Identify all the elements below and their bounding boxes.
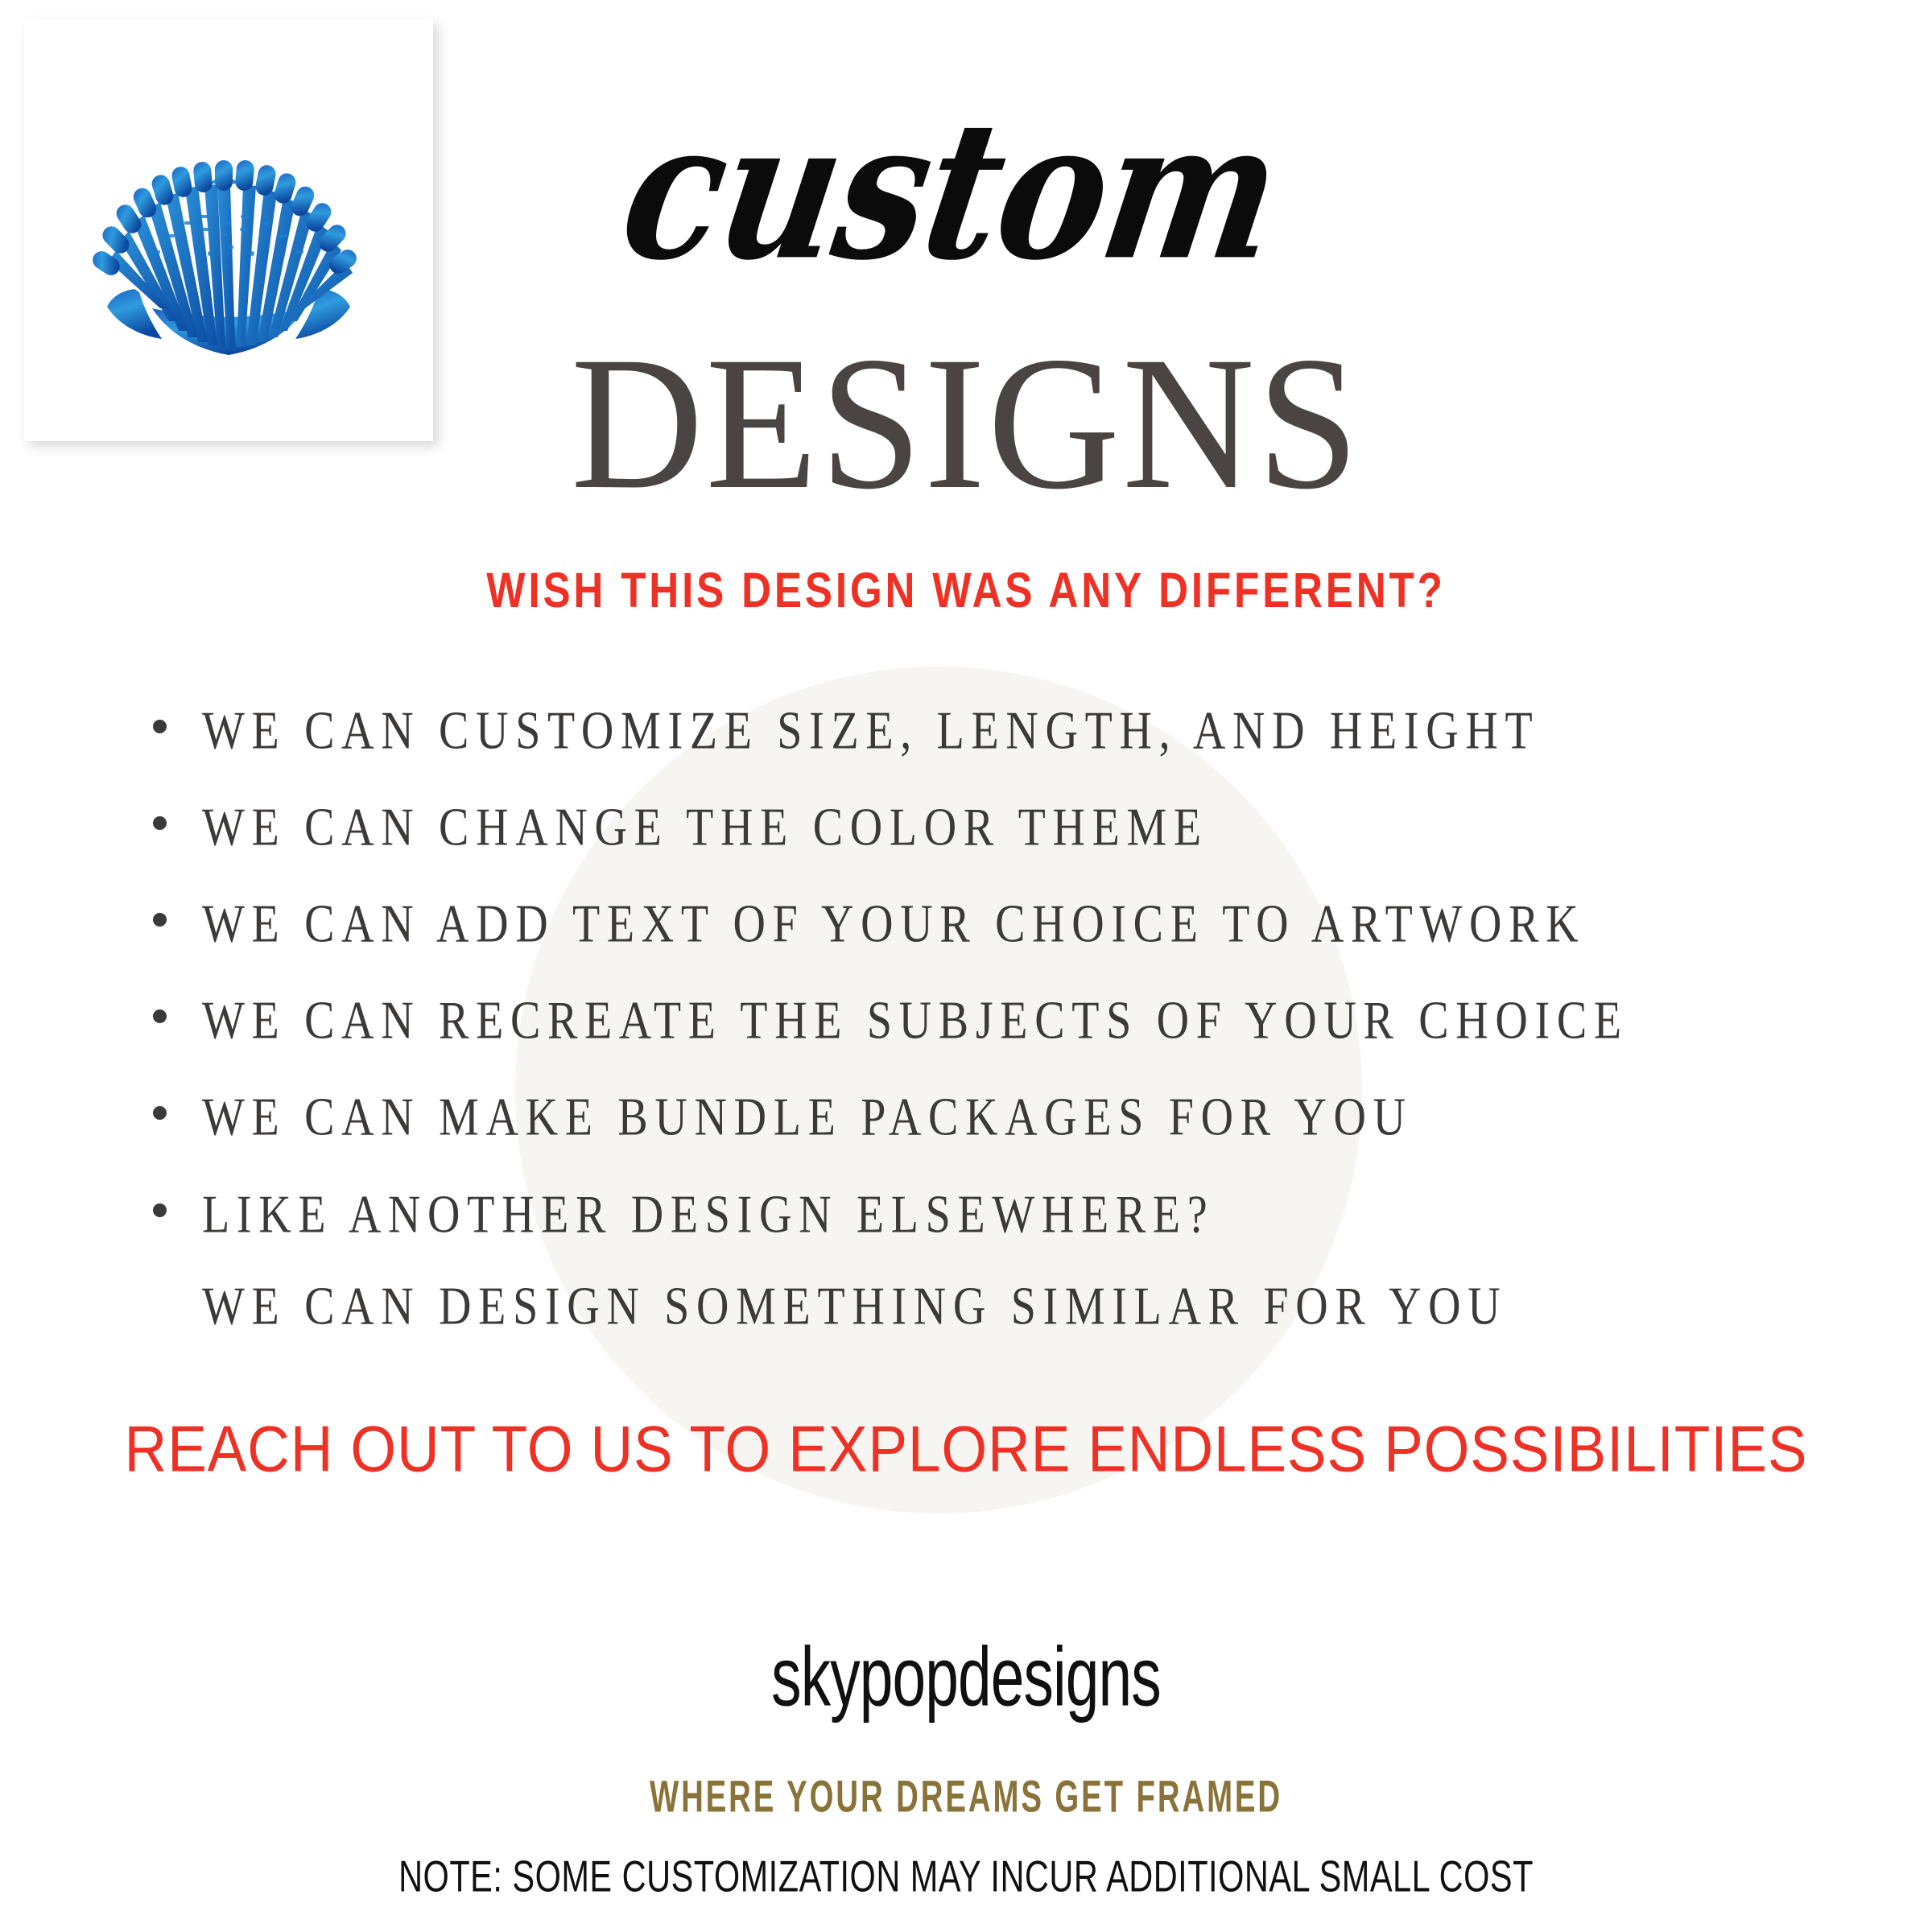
list-item-label: WE CAN ADD TEXT OF YOUR CHOICE TO ARTWOR… — [202, 898, 1585, 953]
bullet-dot-icon — [153, 1106, 167, 1120]
scallop-seashell-icon — [72, 89, 386, 371]
bullet-dot-icon — [153, 1203, 167, 1217]
subtitle-question: WISH THIS DESIGN WAS ANY DIFFERENT? — [68, 566, 1864, 616]
list-item-label: WE CAN RECREATE THE SUBJECTS OF YOUR CHO… — [202, 994, 1629, 1050]
list-item-label: LIKE ANOTHER DESIGN ELSEWHERE? — [202, 1187, 1214, 1243]
list-item: WE CAN ADD TEXT OF YOUR CHOICE TO ARTWOR… — [153, 902, 1811, 947]
bullet-dot-icon — [153, 720, 167, 733]
brand-tagline: WHERE YOUR DREAMS GET FRAMED — [193, 1775, 1739, 1820]
footnote-text: NOTE: SOME CUSTOMIZATION MAY INCUR ADDIT… — [164, 1855, 1768, 1899]
framed-artwork-thumbnail[interactable] — [24, 19, 433, 441]
list-item-label: WE CAN CUSTOMIZE SIZE, LENGTH, AND HEIGH… — [202, 704, 1539, 759]
bullet-dot-icon — [153, 913, 167, 927]
bullet-dot-icon — [153, 1009, 167, 1023]
list-item-continuation: WE CAN DESIGN SOMETHING SIMILAR FOR YOU — [153, 1284, 1811, 1330]
list-item-label: WE CAN MAKE BUNDLE PACKAGES FOR YOU — [202, 1091, 1413, 1146]
list-item: WE CAN MAKE BUNDLE PACKAGES FOR YOU — [153, 1095, 1811, 1141]
list-item: WE CAN RECREATE THE SUBJECTS OF YOUR CHO… — [153, 998, 1811, 1044]
list-item: WE CAN CHANGE THE COLOR THEME — [153, 805, 1811, 851]
call-to-action-text: REACH OUT TO US TO EXPLORE ENDLESS POSSI… — [39, 1418, 1893, 1483]
benefits-list: WE CAN CUSTOMIZE SIZE, LENGTH, AND HEIGH… — [153, 708, 1811, 1330]
brand-name: skypopdesigns — [213, 1636, 1719, 1719]
bullet-dot-icon — [153, 816, 167, 830]
list-item: LIKE ANOTHER DESIGN ELSEWHERE? — [153, 1192, 1811, 1238]
list-item: WE CAN CUSTOMIZE SIZE, LENGTH, AND HEIGH… — [153, 708, 1811, 754]
list-item-label: WE CAN DESIGN SOMETHING SIMILAR FOR YOU — [202, 1279, 1507, 1335]
list-item-label: WE CAN CHANGE THE COLOR THEME — [202, 800, 1208, 856]
